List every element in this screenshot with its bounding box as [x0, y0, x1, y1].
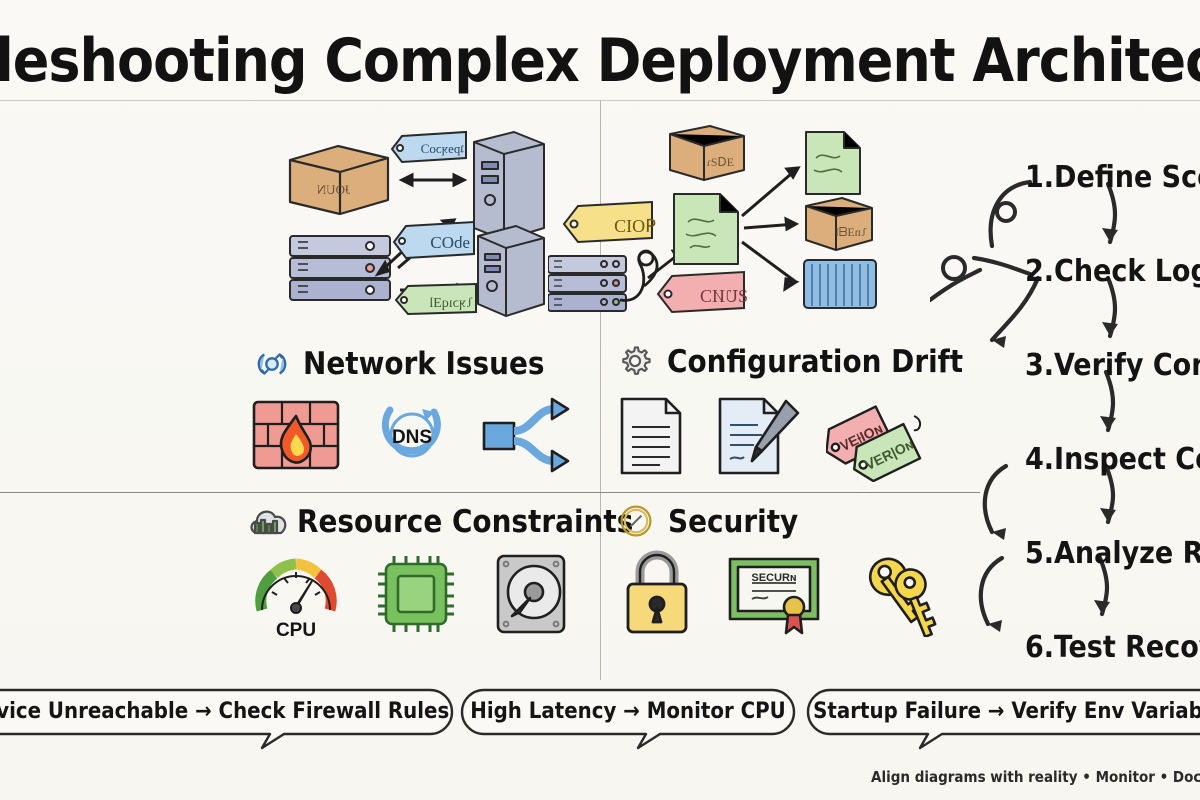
flow-step-3[interactable]: 3.Verify Connec: [1025, 348, 1200, 383]
dns-caption: DNS: [392, 427, 432, 448]
quadrant-label-configuration-drift: Configuration Drift: [667, 344, 963, 380]
callout-firewall[interactable]: Service Unreachable → Check Firewall Rul…: [0, 686, 454, 736]
gear-icon: [617, 343, 655, 381]
document-edit-icon: [712, 393, 804, 484]
flow-connector-arrows: [930, 150, 1200, 670]
padlock-icon: [620, 548, 694, 643]
callout-firewall-text: Service Unreachable → Check Firewall Rul…: [0, 699, 467, 724]
horizontal-divider: [0, 492, 980, 493]
svg-text:ɈOUN: ɈOUN: [316, 182, 350, 197]
callout-startup[interactable]: Startup Failure → Verify Env Variables: [806, 686, 1200, 736]
svg-text:ʇpɘʞɔoƆ: ʇpɘʞɔoƆ: [420, 141, 464, 156]
callout-startup-text: Startup Failure → Verify Env Variables: [795, 699, 1200, 724]
deployment-sketch-left: ɈOUN: [278, 118, 578, 323]
version-tags-icon: ᴎOI⟊Ǝ𝖵 ᴎO|ЯƎ𝖵: [826, 390, 926, 487]
callout-latency-text: High Latency → Monitor CPU: [452, 699, 803, 724]
flow-step-1[interactable]: 1.Define Scope: [1025, 160, 1200, 195]
memory-chip-icon: [370, 550, 462, 643]
flow-step-6[interactable]: 6.Test Recover: [1025, 630, 1200, 665]
cloud-bars-icon: [247, 503, 285, 541]
callout-row: Service Unreachable → Check Firewall Rul…: [0, 686, 1200, 750]
quadrant-label-network-issues: Network Issues: [303, 346, 545, 382]
svg-text:ƧƲИƆ: ƧƲИƆ: [700, 286, 748, 306]
svg-text:ʅʞɔıqƎl: ʅʞɔıqƎl: [429, 296, 473, 311]
routing-split-icon: [480, 397, 570, 478]
sync-network-icon: [253, 345, 291, 383]
quadrant-heading-network-issues: Network Issues: [253, 345, 545, 383]
quadrant-heading-configuration-drift: Configuration Drift: [617, 343, 963, 381]
quadrant-label-resource-constraints: Resource Constraints: [297, 504, 633, 540]
cpu-gauge-icon: CPU: [250, 548, 342, 645]
deployment-sketch-right: ꟼOIƆ ƧƲИƆ ƎᗡƧɿ: [548, 118, 888, 323]
certificate-icon: ᴎЯUƆƎƧ: [724, 549, 824, 642]
icon-row-configuration-drift: ᴎOI⟊Ǝ𝖵 ᴎO|ЯƎ𝖵: [612, 390, 926, 487]
svg-text:ɘbOƆ: ɘbOƆ: [430, 233, 470, 252]
flow-step-5[interactable]: 5.Analyze Reso: [1025, 536, 1200, 571]
icon-row-security: ᴎЯUƆƎƧ: [620, 548, 946, 643]
hard-disk-icon: [490, 550, 572, 643]
svg-text:ꟼOIƆ: ꟼOIƆ: [614, 216, 656, 236]
icon-row-network-issues: DNS: [248, 394, 570, 481]
dns-icon: DNS: [370, 394, 454, 481]
flow-step-2[interactable]: 2.Check Logs: [1025, 254, 1200, 289]
firewall-icon: [248, 394, 344, 481]
flow-step-4[interactable]: 4.Inspect Conf: [1025, 442, 1200, 477]
footer-note: Align diagrams with reality • Monitor • …: [871, 768, 1200, 786]
shield-badge-icon: [618, 503, 656, 541]
document-icon: [612, 393, 690, 484]
quadrant-heading-resource-constraints: Resource Constraints: [247, 503, 633, 541]
quadrant-label-security: Security: [668, 504, 798, 540]
svg-text:ᴎЯUƆƎƧ: ᴎЯUƆƎƧ: [751, 572, 797, 584]
callout-latency[interactable]: High Latency → Monitor CPU: [460, 686, 796, 736]
page-title: Troubleshooting Complex Deployment Archi…: [0, 26, 1200, 96]
svg-text:ʅnƎᗺl: ʅnƎᗺl: [835, 225, 867, 239]
cpu-caption: CPU: [276, 620, 316, 640]
quadrant-heading-security: Security: [618, 503, 798, 541]
icon-row-resource-constraints: CPU: [250, 548, 572, 645]
svg-text:ƎᗡƧɿ: ƎᗡƧɿ: [707, 155, 734, 169]
